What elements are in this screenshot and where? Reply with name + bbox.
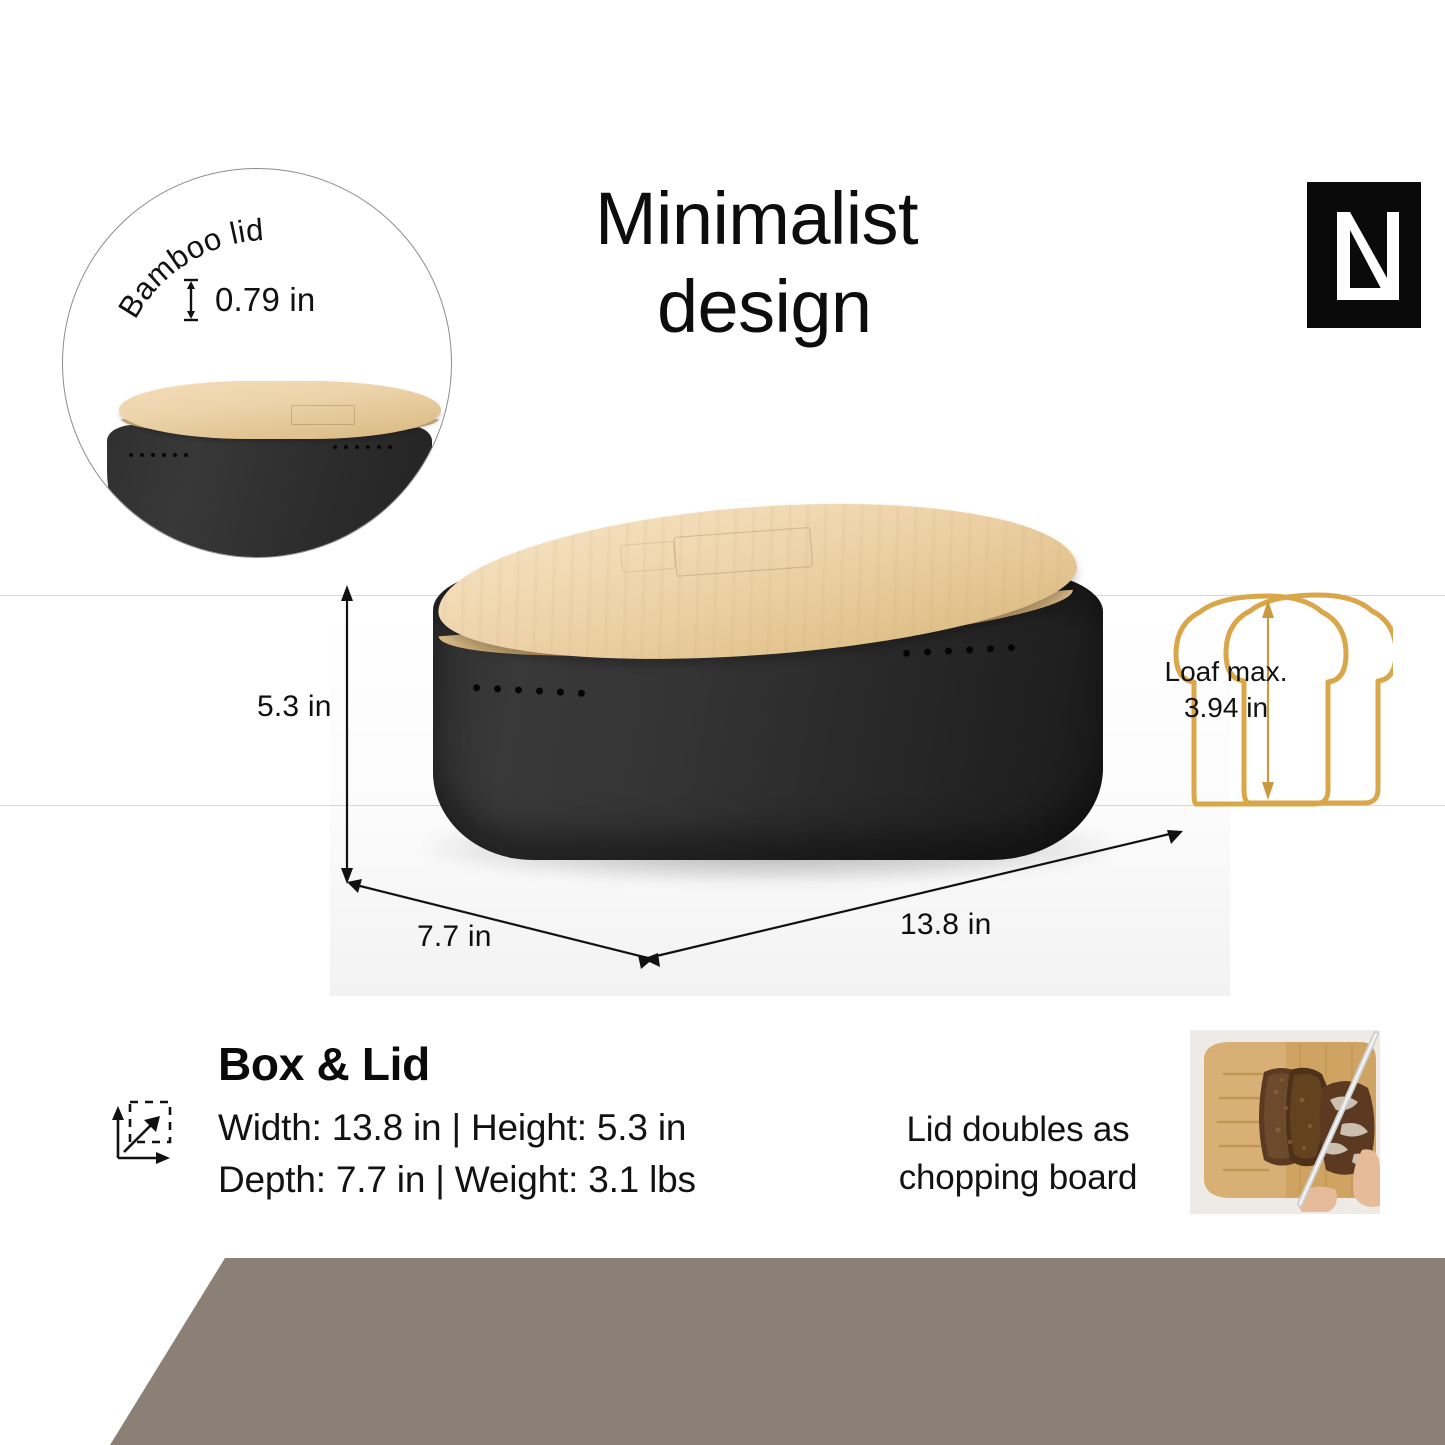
inset-product-closeup bbox=[101, 367, 439, 557]
loaf-max-callout: Loaf max. 3.94 in bbox=[1168, 592, 1393, 810]
headline-line-1: Minimalist bbox=[595, 175, 1295, 263]
banner-emphasis: 1 million satisfied bbox=[321, 57, 754, 115]
bread-slicing-photo bbox=[1190, 1030, 1380, 1214]
n-monogram-icon bbox=[1307, 182, 1421, 328]
chopping-board-label: Lid doubles as chopping board bbox=[858, 1106, 1178, 1202]
spec-title: Box & Lid bbox=[218, 1036, 748, 1092]
dimension-expand-icon bbox=[108, 1096, 180, 1168]
lid-thickness-measure: 0.79 in bbox=[181, 277, 421, 323]
inset-lid-engraving bbox=[291, 405, 355, 425]
inset-vent-holes-right bbox=[333, 445, 392, 449]
infographic-canvas: Bamboo lid 0.79 in bbox=[0, 0, 1445, 1445]
dimension-label-depth: 7.7 in bbox=[417, 920, 492, 954]
page-title: Minimalist design bbox=[595, 175, 1295, 351]
headline-line-2: design bbox=[595, 263, 1295, 351]
lid-thickness-value: 0.79 in bbox=[215, 281, 315, 319]
spec-line-2: Depth: 7.7 in | Weight: 3.1 lbs bbox=[218, 1154, 748, 1206]
banner-prefix: Over bbox=[195, 57, 321, 115]
bamboo-lid-inset-circle: Bamboo lid 0.79 in bbox=[62, 168, 452, 558]
spec-line-1: Width: 13.8 in | Height: 5.3 in bbox=[218, 1102, 748, 1154]
lid-engraving-tag bbox=[620, 541, 676, 573]
spec-lines: Width: 13.8 in | Height: 5.3 in Depth: 7… bbox=[218, 1102, 748, 1206]
dimension-label-height: 5.3 in bbox=[257, 690, 332, 724]
brand-logo bbox=[1307, 182, 1421, 328]
chopping-board-feature: Lid doubles as chopping board bbox=[858, 1022, 1418, 1222]
bread-slicing-illustration bbox=[1190, 1030, 1380, 1214]
chopping-board-line-1: Lid doubles as bbox=[858, 1106, 1178, 1154]
loaf-max-line-2: 3.94 in bbox=[1146, 690, 1306, 726]
bread-box-product-render bbox=[405, 495, 1125, 915]
inset-vent-holes-left bbox=[129, 453, 188, 457]
chopping-board-line-2: chopping board bbox=[858, 1154, 1178, 1202]
height-arrow-icon bbox=[181, 277, 201, 323]
loaf-max-line-1: Loaf max. bbox=[1146, 654, 1306, 690]
inset-bamboo-lid bbox=[119, 381, 441, 439]
loaf-max-label: Loaf max. 3.94 in bbox=[1146, 654, 1306, 726]
social-proof-text: Over 1 million satisfied customers world… bbox=[0, 50, 1445, 122]
banner-suffix: customers worldwide bbox=[754, 57, 1250, 115]
spec-text-block: Box & Lid Width: 13.8 in | Height: 5.3 i… bbox=[218, 1036, 748, 1206]
social-proof-banner bbox=[0, 1258, 1445, 1445]
dimension-label-width: 13.8 in bbox=[900, 908, 991, 942]
